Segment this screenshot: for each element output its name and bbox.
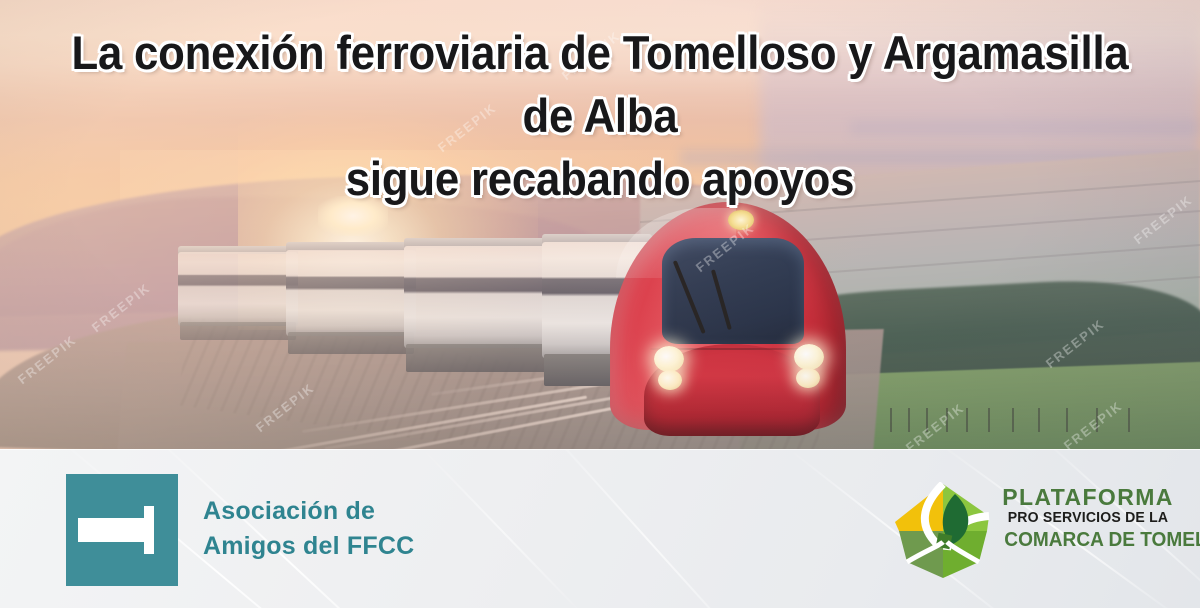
train [0, 196, 870, 446]
coach-skirt [406, 344, 552, 372]
coach-skirt [180, 322, 296, 340]
coach [178, 252, 298, 326]
page-title: La conexión ferroviaria de Tomelloso y A… [42, 22, 1158, 211]
coach [286, 250, 416, 336]
fence [890, 398, 1150, 432]
ffcc-name: Asociación de Amigos del FFCC [203, 494, 414, 563]
plataforma-line2: PRO SERVICIOS DE LA [1001, 509, 1176, 527]
lowlamp-right [796, 368, 820, 388]
plataforma-line3: COMARCA DE TOMELLOSO [1004, 528, 1171, 552]
headlamp-left [654, 346, 684, 372]
roof-marker-light [728, 210, 754, 230]
streak [419, 449, 587, 608]
lowlamp-left [658, 370, 682, 390]
plataforma-name: PLATAFORMA PRO SERVICIOS DE LA COMARCA D… [998, 485, 1178, 551]
headlamp-right [794, 344, 824, 370]
plataforma-line1: PLATAFORMA [998, 485, 1178, 509]
footer-top-edge [0, 449, 1200, 450]
coach [404, 246, 554, 348]
leaf-pinwheel-icon [893, 482, 993, 580]
locomotive [610, 198, 850, 436]
streak [539, 449, 761, 608]
coach-skirt [288, 332, 414, 354]
poster-root: FREEPIK FREEPIK FREEPIK FREEPIK FREEPIK … [0, 0, 1200, 608]
windshield [662, 238, 804, 344]
ffcc-logo [66, 474, 178, 586]
